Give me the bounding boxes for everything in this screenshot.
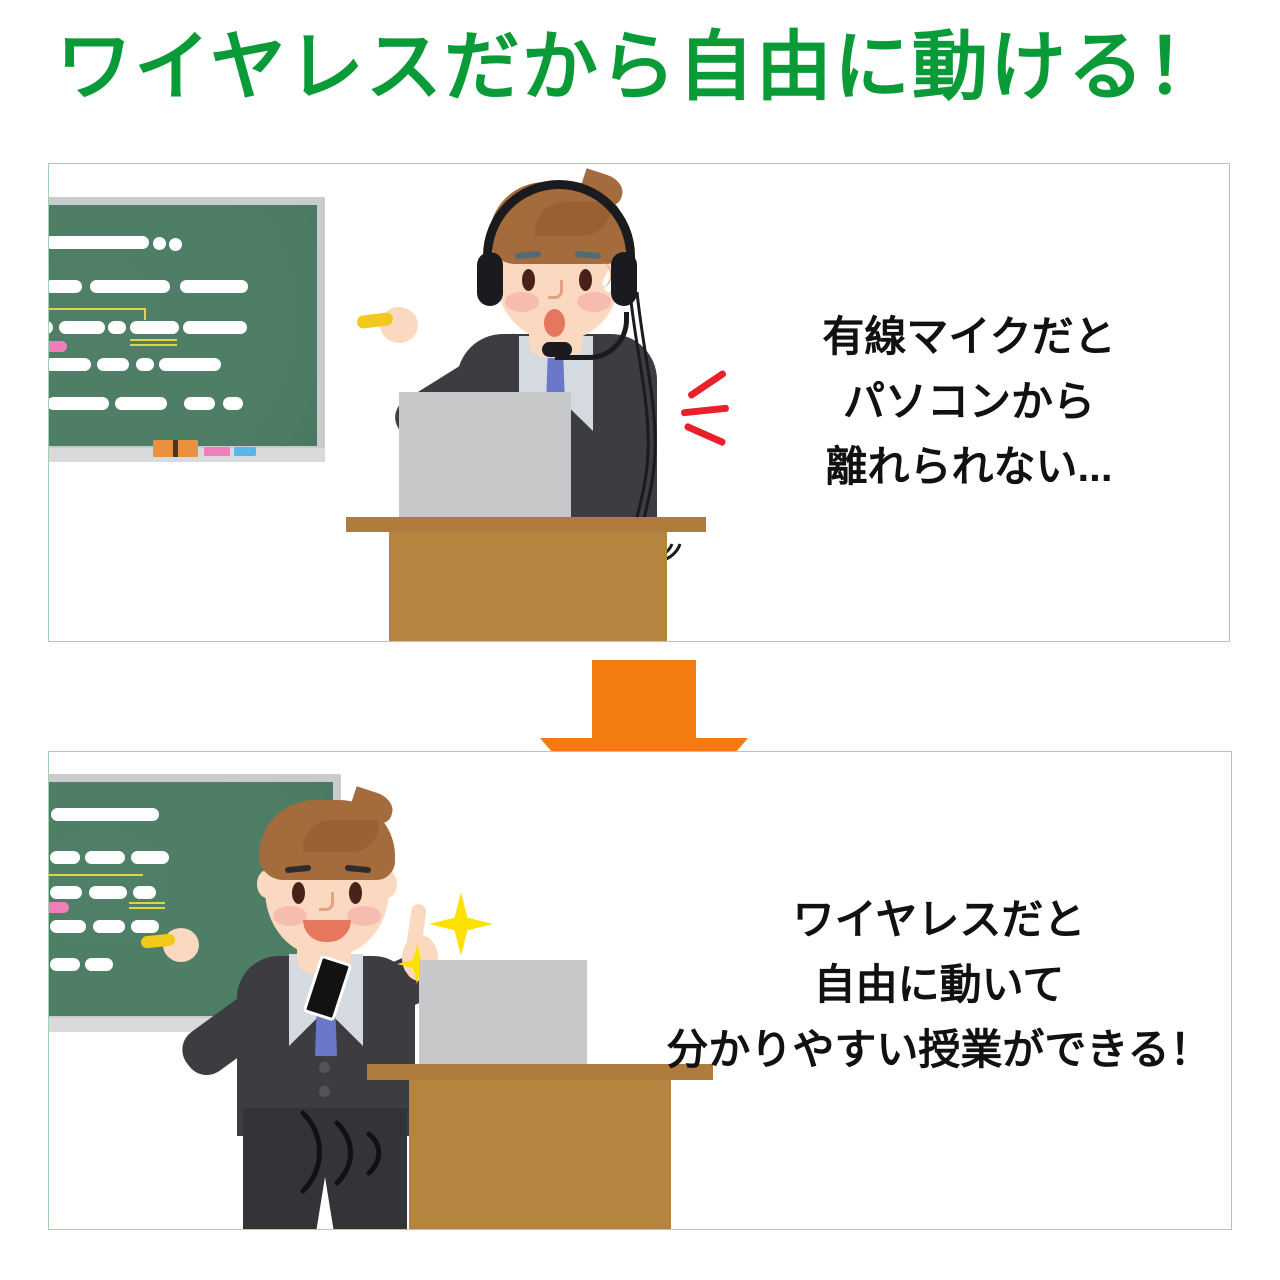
chalk-scribble (50, 851, 80, 864)
teacher-eye (349, 882, 362, 904)
chalk-scribble (48, 236, 149, 249)
caption-line: 離れられない... (749, 434, 1189, 499)
chalk-scribble (223, 397, 243, 410)
suit-button (319, 1086, 330, 1097)
chalk-scribble (115, 397, 167, 410)
poster-root: ワイヤレスだから自由に動ける！ (0, 0, 1280, 1280)
blackboard-eraser-band (173, 440, 178, 457)
chalk-scribble (130, 321, 179, 334)
anger-line (683, 422, 726, 446)
caption-line: 分かりやすい授業ができる！ (609, 1017, 1232, 1082)
sound-wave-icon (297, 1107, 407, 1197)
caption-before: 有線マイクだと パソコンから 離れられない... (749, 304, 1189, 499)
chalk-scribble (50, 920, 86, 933)
chalk-stick-blue (234, 447, 256, 456)
chalk-scribble (184, 397, 215, 410)
lectern-body-after (409, 1080, 671, 1230)
blackboard-before (48, 197, 325, 462)
caption-after: ワイヤレスだと 自由に動いて 分かりやすい授業ができる！ (609, 887, 1232, 1082)
anger-line (681, 405, 729, 417)
caption-line: ワイヤレスだと (609, 887, 1232, 952)
laptop-screen-after (419, 960, 587, 1070)
lectern-top-before (346, 517, 706, 532)
frustration-marks (679, 379, 759, 459)
chalk-scribble (159, 358, 221, 371)
teacher-cheek (347, 906, 381, 926)
chalk-scribble (48, 280, 82, 293)
caption-line: 自由に動いて (609, 952, 1232, 1017)
chalk-scribble (180, 280, 248, 293)
sound-wave-arcs (297, 1107, 407, 1197)
panel-after: ワイヤレスだと 自由に動いて 分かりやすい授業ができる！ (48, 751, 1232, 1230)
caption-line: 有線マイクだと (749, 304, 1189, 369)
headset-mic-tip-icon (542, 342, 572, 357)
chalk-scribble (93, 920, 125, 933)
chalk-scribble (85, 851, 125, 864)
panel-before: 有線マイクだと パソコンから 離れられない... (48, 163, 1230, 642)
chalk-scribble (183, 321, 247, 334)
headset-earcup-icon (477, 252, 503, 306)
chalk-scribble (108, 321, 126, 334)
chalk-scribble (48, 358, 91, 371)
chalk-scribble (153, 237, 166, 250)
chalk-yellow-underline (130, 339, 177, 341)
lectern-body-before (389, 532, 667, 641)
chalk-scribble (90, 280, 170, 293)
chalk-pink-highlight (48, 902, 69, 913)
laptop-screen-before (399, 392, 571, 529)
suit-button (319, 1062, 330, 1073)
teacher-cheek (273, 906, 307, 926)
chalk-scribble (48, 397, 109, 410)
chalk-scribble (85, 958, 113, 971)
chalk-stick-pink (204, 447, 230, 456)
chalk-scribble (59, 321, 105, 334)
chalk-yellow-underline (48, 308, 146, 310)
chalk-scribble (50, 886, 82, 899)
chalk-yellow-tick (144, 308, 146, 320)
chalk-yellow-underline (130, 344, 177, 346)
chalk-scribble (89, 886, 127, 899)
page-title: ワイヤレスだから自由に動ける！ (0, 26, 1280, 110)
chalk-scribble (136, 358, 154, 371)
teacher-nose (319, 892, 334, 911)
chalk-scribble (50, 958, 80, 971)
chalk-yellow-underline (48, 874, 143, 876)
chalk-pink-highlight (48, 341, 67, 352)
teacher-eye (292, 882, 305, 904)
caption-line: パソコンから (749, 369, 1189, 434)
chalk-scribble (97, 358, 129, 371)
chalk-scribble (169, 238, 182, 251)
